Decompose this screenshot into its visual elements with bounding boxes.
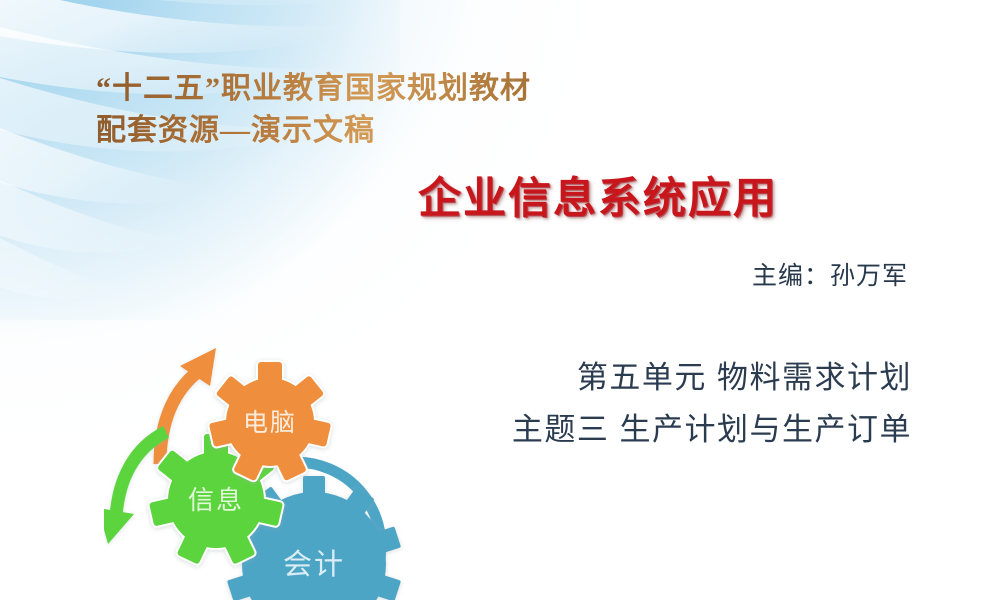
unit-title: 第五单元 物料需求计划 — [400, 352, 912, 404]
series-header-line-2: 配套资源—演示文稿 — [96, 110, 531, 152]
series-header: “十二五”职业教育国家规划教材 配套资源—演示文稿 — [96, 68, 531, 152]
topic-title: 主题三 生产计划与生产订单 — [400, 404, 912, 456]
gears-illustration: 会计 — [104, 332, 424, 600]
gear-label-computer: 电脑 — [243, 409, 297, 437]
blue-gradient-wash-secondary — [0, 0, 400, 320]
presentation-slide: “十二五”职业教育国家规划教材 配套资源—演示文稿 企业信息系统应用 主编：孙万… — [0, 0, 1000, 600]
editor-credit: 主编：孙万军 — [500, 256, 908, 292]
series-header-line-1: “十二五”职业教育国家规划教材 — [96, 68, 531, 110]
page-title: 企业信息系统应用 — [418, 175, 908, 225]
gear-label-information: 信息 — [188, 485, 244, 515]
unit-topic-block: 第五单元 物料需求计划 主题三 生产计划与生产订单 — [400, 352, 912, 456]
gear-label-accounting: 会计 — [283, 548, 345, 581]
